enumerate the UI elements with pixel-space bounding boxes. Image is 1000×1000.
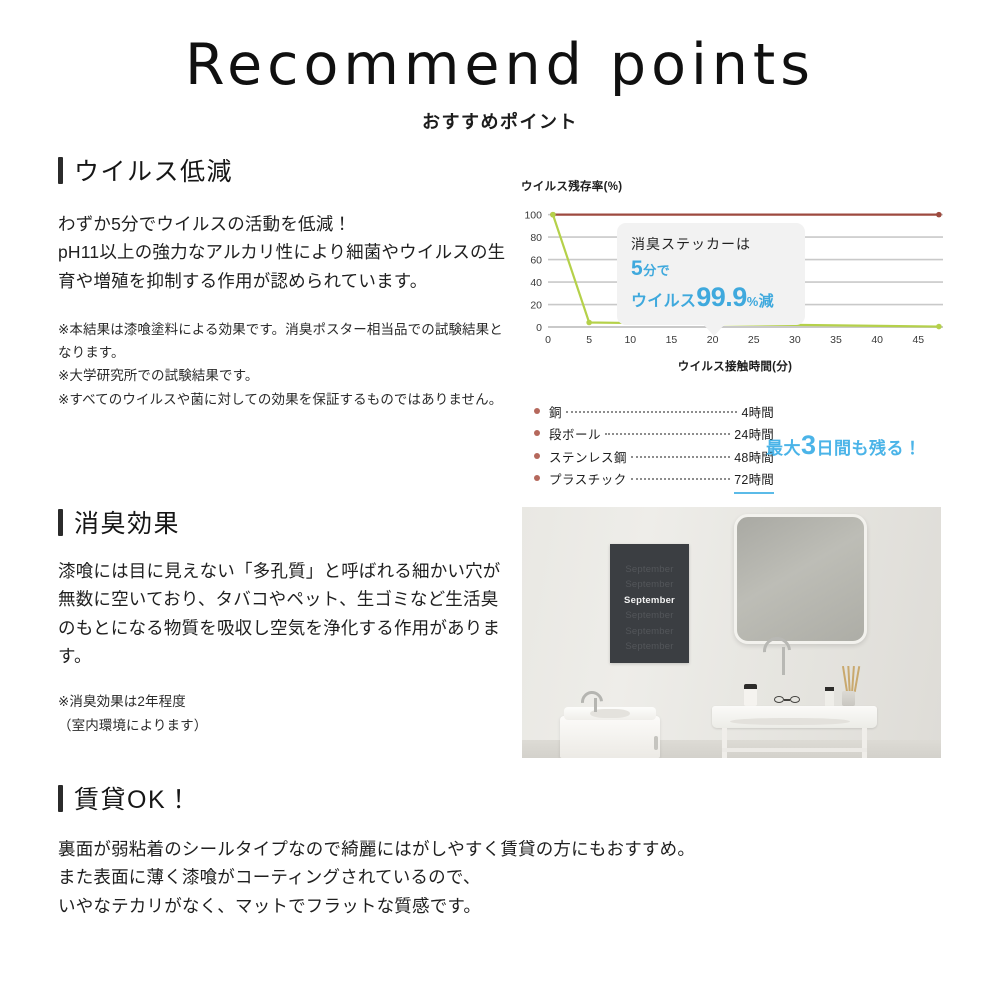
heading-accent-bar — [58, 785, 63, 812]
callout-line-1: 消臭ステッカーは — [631, 234, 795, 254]
photo-diffuser-vase — [842, 691, 855, 706]
note-item: ※大学研究所での試験結果です。 — [58, 364, 513, 387]
chart-y-axis-label: ウイルス残存率(%) — [521, 178, 981, 194]
legend-bullet-icon — [534, 475, 540, 481]
section-title: 賃貸OK！ — [74, 780, 193, 816]
legend-value: 4時間 — [741, 402, 774, 424]
poster-line: September — [610, 562, 689, 577]
callout-minutes-unit: 分 — [643, 263, 657, 278]
photo-september-poster: September September September September … — [610, 544, 689, 663]
washstand-leg — [862, 728, 867, 758]
svg-text:40: 40 — [530, 277, 542, 289]
chart-callout: 消臭ステッカーは 5分で ウイルス99.9%減 — [617, 223, 805, 325]
callout-line-3: ウイルス99.9%減 — [631, 282, 795, 313]
virus-survival-chart: ウイルス残存率(%) 020406080100 0510152025303540… — [521, 178, 981, 374]
chart-y-tick-labels: 020406080100 — [524, 210, 542, 334]
max-note-suffix: 日間も残る！ — [817, 439, 922, 458]
section-body: わずか5分でウイルスの活動を低減！ pH11以上の強力なアルカリ性により細菌やウ… — [58, 210, 513, 295]
legend-label: プラスチック — [549, 469, 627, 491]
callout-minutes-tail: で — [657, 263, 671, 278]
callout-reduction-number: 99.9 — [696, 282, 747, 312]
legend-item: 段ボール 24時間 — [534, 424, 774, 446]
svg-text:25: 25 — [748, 334, 760, 346]
toilet-flush-handle — [654, 736, 658, 750]
photo-basin — [712, 706, 877, 728]
toilet-tank — [560, 716, 660, 758]
svg-text:35: 35 — [830, 334, 842, 346]
svg-text:5: 5 — [586, 334, 592, 346]
photo-mirror — [734, 514, 867, 644]
glasses-lens-right — [790, 696, 800, 703]
svg-text:0: 0 — [536, 322, 542, 334]
max-duration-note: 最大3日間も残る！ — [766, 430, 922, 461]
washstand-rail — [722, 748, 867, 752]
washstand-leg — [722, 728, 727, 758]
legend-item: 銅 4時間 — [534, 402, 774, 424]
legend-value: 72時間 — [734, 469, 774, 494]
poster-line: September — [610, 608, 689, 623]
poster-line: September — [610, 577, 689, 592]
section-heading: ウイルス低減 — [58, 152, 513, 188]
svg-text:15: 15 — [666, 334, 678, 346]
section-title: 消臭効果 — [74, 504, 180, 540]
legend-bullet-icon — [534, 408, 540, 414]
legend-leader-dots — [605, 433, 730, 435]
note-item: （室内環境によります） — [58, 714, 508, 737]
photo-washstand-legs — [722, 728, 867, 758]
chart-x-tick-labels: 051015202530354045 — [545, 334, 924, 346]
section-body: 裏面が弱粘着のシールタイプなので綺麗にはがしやすく賃貸の方にもおすすめ。 また表… — [58, 835, 888, 920]
reed-stick — [847, 666, 850, 692]
legend-item: プラスチック 72時間 — [534, 469, 774, 494]
svg-text:45: 45 — [912, 334, 924, 346]
note-item: ※消臭効果は2年程度 — [58, 690, 508, 713]
note-item: ※本結果は漆喰塗料による効果です。消臭ポスター相当品での試験結果となります。 — [58, 318, 513, 364]
section-deodorizing-effect: 消臭効果 漆喰には目に見えない「多孔質」と呼ばれる細かい穴が無数に空いており、タ… — [58, 504, 508, 737]
svg-text:100: 100 — [524, 210, 542, 222]
photo-bottle — [825, 687, 834, 706]
page-root: Recommend points おすすめポイント ウイルス低減 わずか5分でウ… — [0, 0, 1000, 1000]
svg-text:30: 30 — [789, 334, 801, 346]
callout-virus-kana: ウイルス — [631, 293, 696, 310]
legend-bullet-icon — [534, 430, 540, 436]
svg-text:60: 60 — [530, 255, 542, 267]
photo-reed-sticks — [844, 666, 858, 692]
toilet-tap — [594, 698, 597, 712]
legend-bullet-icon — [534, 453, 540, 459]
svg-text:40: 40 — [871, 334, 883, 346]
heading-accent-bar — [58, 157, 63, 184]
photo-jar — [744, 684, 757, 706]
section-heading: 賃貸OK！ — [58, 780, 888, 816]
max-note-prefix: 最大 — [766, 439, 801, 458]
legend-label: 段ボール — [549, 424, 601, 446]
section-notes: ※消臭効果は2年程度 （室内環境によります） — [58, 690, 508, 736]
photo-toilet — [560, 702, 660, 758]
section-body: 漆喰には目に見えない「多孔質」と呼ばれる細かい穴が無数に空いており、タバコやペッ… — [58, 557, 508, 670]
chart-plot-area: 020406080100 051015202530354045 消臭ステッカーは… — [521, 203, 949, 351]
glasses-lens-left — [774, 696, 784, 703]
photo-glasses — [774, 696, 801, 704]
svg-text:80: 80 — [530, 232, 542, 244]
callout-reduction-tail: 減 — [759, 293, 774, 310]
legend-leader-dots — [631, 456, 730, 458]
max-note-number: 3 — [801, 430, 817, 460]
legend-leader-dots — [566, 411, 737, 413]
section-notes: ※本結果は漆喰塗料による効果です。消臭ポスター相当品での試験結果となります。 ※… — [58, 318, 513, 411]
callout-line-2: 5分で — [631, 257, 795, 281]
legend-leader-dots — [631, 478, 731, 480]
section-virus-reduction: ウイルス低減 わずか5分でウイルスの活動を低減！ pH11以上の強力なアルカリ性… — [58, 152, 513, 411]
poster-line: September — [610, 639, 689, 654]
legend-label: 銅 — [549, 402, 562, 424]
surface-survival-legend: 銅 4時間 段ボール 24時間 ステンレス鋼 48時間 プラスチック 72時間 — [534, 402, 774, 494]
callout-percent-sign: % — [747, 294, 759, 309]
legend-label: ステンレス鋼 — [549, 447, 627, 469]
page-subtitle: おすすめポイント — [0, 108, 1000, 134]
chart-x-axis-label: ウイルス接触時間(分) — [521, 358, 949, 374]
svg-text:0: 0 — [545, 334, 551, 346]
section-rental-ok: 賃貸OK！ 裏面が弱粘着のシールタイプなので綺麗にはがしやすく賃貸の方にもおすす… — [58, 780, 888, 920]
page-header: Recommend points おすすめポイント — [0, 34, 1000, 134]
page-title: Recommend points — [0, 34, 1000, 97]
heading-accent-bar — [58, 509, 63, 536]
section-title: ウイルス低減 — [74, 152, 233, 188]
legend-item: ステンレス鋼 48時間 — [534, 447, 774, 469]
bathroom-photo: September September September September … — [522, 507, 941, 758]
svg-text:10: 10 — [624, 334, 636, 346]
poster-line-highlight: September — [610, 593, 689, 608]
note-item: ※すべてのウイルスや菌に対しての効果を保証するものではありません。 — [58, 388, 513, 411]
photo-washstand — [712, 706, 877, 758]
photo-sink-faucet — [782, 647, 785, 675]
callout-minutes-number: 5 — [631, 257, 643, 280]
svg-text:20: 20 — [530, 300, 542, 312]
poster-line: September — [610, 624, 689, 639]
section-heading: 消臭効果 — [58, 504, 508, 540]
